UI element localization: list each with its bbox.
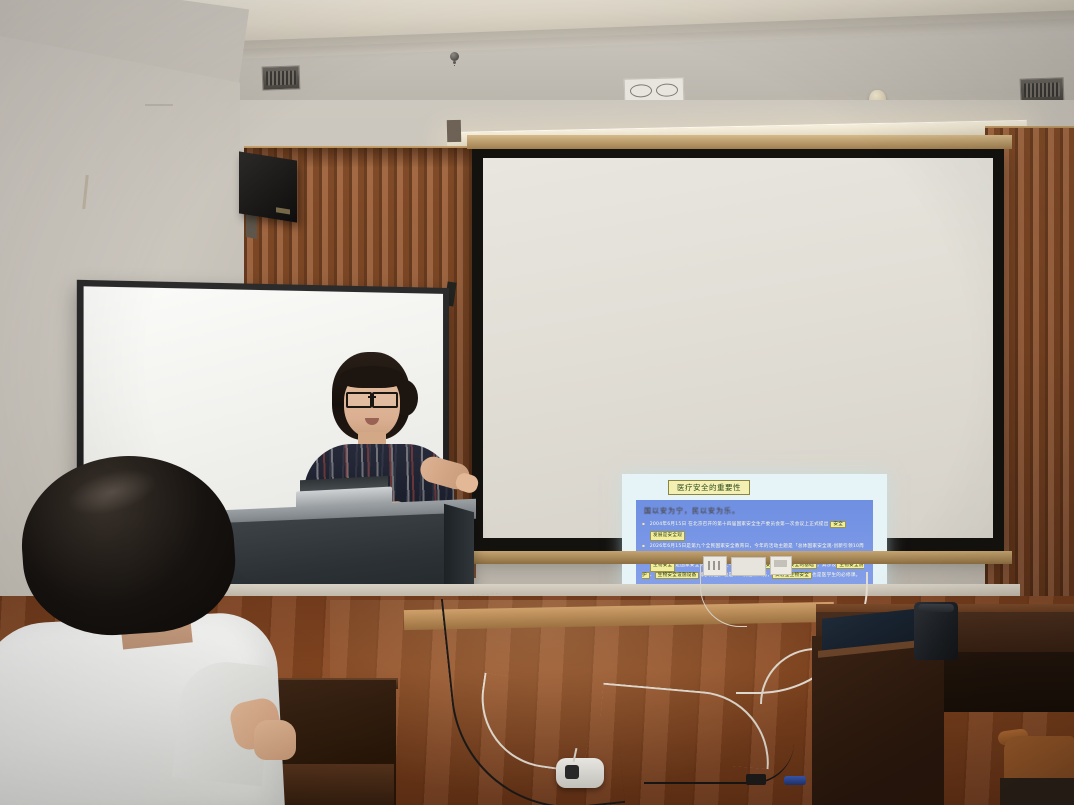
ceiling-sign [624, 77, 685, 103]
glasses-icon [344, 392, 400, 405]
presenter-fringe [340, 366, 404, 388]
slide-bullet-1-highlight: 安全 [830, 521, 846, 528]
sign-glyph-left [630, 84, 652, 98]
glasses-lens-right [372, 392, 398, 408]
cable-connector [746, 774, 766, 785]
glasses-lens-left [346, 392, 372, 408]
side-desk-front [812, 636, 944, 805]
student-hand [254, 720, 296, 760]
desk-speaker [914, 602, 958, 660]
wall-speaker [239, 151, 297, 222]
slide-bullet-1-cont-text: 发展是安全观 [650, 531, 685, 542]
slide-para-text-3: 、 [650, 573, 655, 578]
slide-bullet-1-cont: 发展是安全观 [642, 531, 867, 542]
screen-frame: 医疗安全的重要性 国以安为宁，民以安为乐。 2004年6月15日 在北京召开的第… [472, 146, 1004, 552]
power-strip[interactable] [556, 758, 604, 788]
slide-title: 医疗安全的重要性 [668, 480, 750, 495]
wall-mark [145, 104, 173, 106]
slide-heading: 国以安为宁，民以安为乐。 [644, 506, 867, 516]
cable-black [644, 742, 794, 784]
sprinkler-icon [450, 52, 459, 61]
lecture-room-photo: 医疗安全的重要性 国以安为宁，民以安为乐。 2004年6月15日 在北京召开的第… [0, 0, 1074, 805]
screen-surface: 医疗安全的重要性 国以安为宁，民以安为乐。 2004年6月15日 在北京召开的第… [483, 158, 993, 538]
ceiling-vent-icon [1020, 77, 1065, 103]
projection-screen: 医疗安全的重要性 国以安为宁，民以安为乐。 2004年6月15日 在北京召开的第… [472, 146, 1004, 552]
slide-bullet-1-text: 2004年6月15日 在北京召开的第十四届国家安全生产委员会第一次会议上正式提出 [650, 522, 829, 527]
chair-seat [1000, 778, 1074, 805]
light-bar-end-cap [447, 120, 461, 142]
cable-connector-blue [784, 776, 806, 785]
screen-top-valance [467, 135, 1012, 149]
slide-para-hl-4: 生物安全设施设备 [655, 572, 700, 579]
presenter-hand [454, 471, 480, 495]
slide-bullet-1: 2004年6月15日 在北京召开的第十四届国家安全生产委员会第一次会议上正式提出… [642, 520, 867, 530]
ceiling-vent-icon [262, 65, 301, 90]
glasses-bridge [368, 396, 376, 398]
sign-glyph-right [656, 83, 678, 97]
